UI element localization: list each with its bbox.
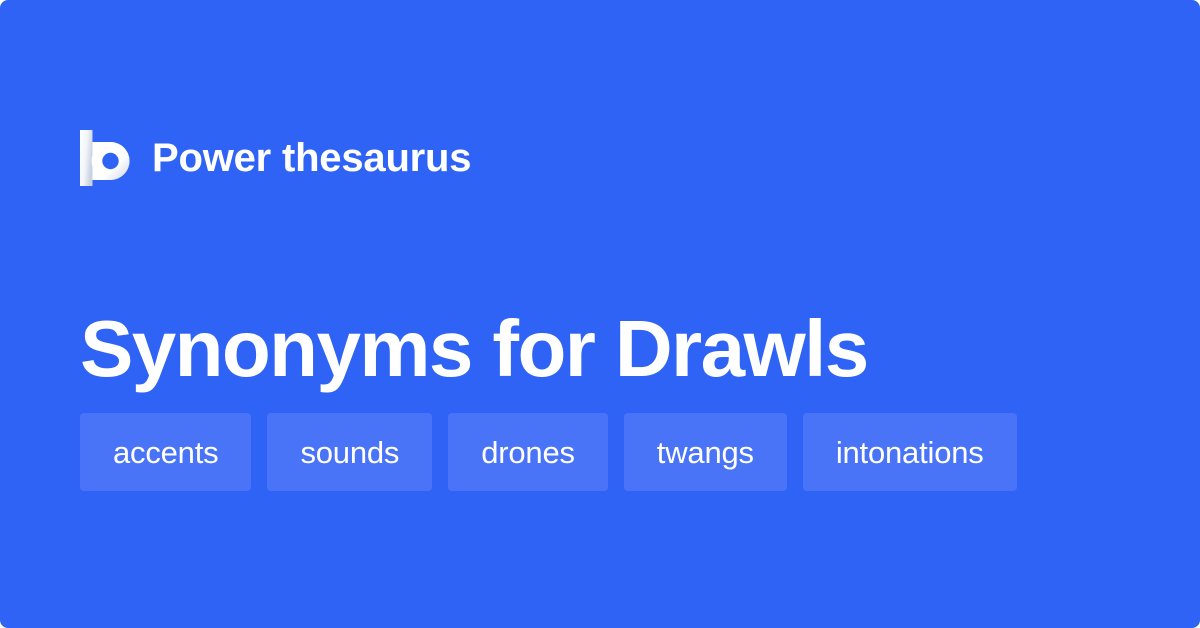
synonym-chip[interactable]: twangs xyxy=(624,413,787,491)
brand-lockup[interactable]: Power thesaurus xyxy=(80,128,471,188)
synonym-chip[interactable]: accents xyxy=(80,413,251,491)
synonym-chip[interactable]: sounds xyxy=(267,413,432,491)
brand-name: Power thesaurus xyxy=(152,138,471,178)
synonyms-share-card: Power thesaurus Synonyms for Drawls acce… xyxy=(0,0,1200,628)
page-title: Synonyms for Drawls xyxy=(80,303,1120,395)
power-thesaurus-b-logo-icon xyxy=(80,130,130,186)
synonym-chip-list: accents sounds drones twangs intonations xyxy=(80,413,1120,491)
synonym-chip[interactable]: intonations xyxy=(803,413,1017,491)
synonym-chip[interactable]: drones xyxy=(448,413,608,491)
